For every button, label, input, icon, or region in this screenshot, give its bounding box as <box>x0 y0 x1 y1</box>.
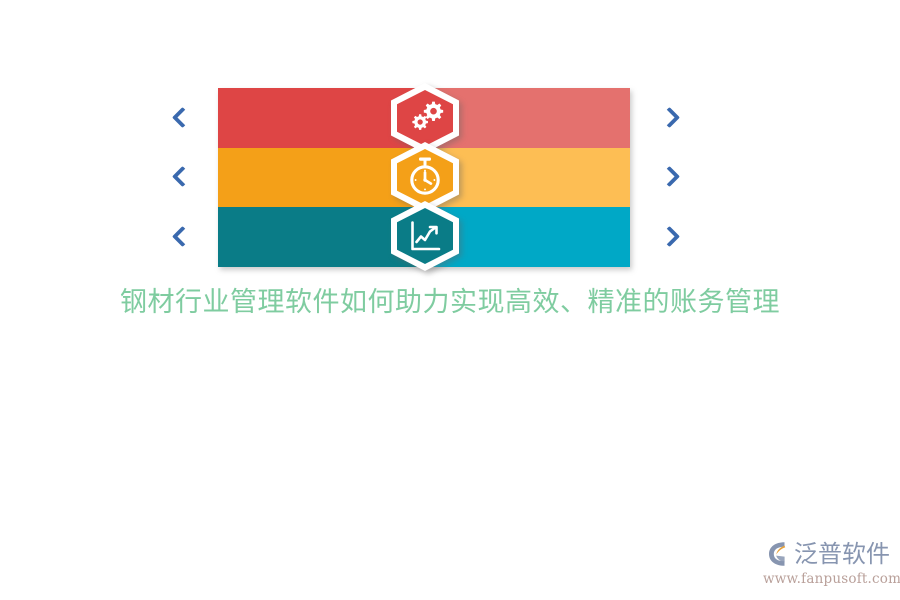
right-chevron-group <box>650 88 684 267</box>
page-title: 钢材行业管理软件如何助力实现高效、精准的账务管理 <box>0 286 900 320</box>
infographic-banner <box>150 80 710 280</box>
hexagon-badge-stack <box>387 80 463 280</box>
chevron-right-icon[interactable] <box>659 107 675 129</box>
chevron-left-icon[interactable] <box>173 226 189 248</box>
chevron-left-icon[interactable] <box>173 107 189 129</box>
chevron-right-icon[interactable] <box>659 226 675 248</box>
left-chevron-group <box>164 88 198 267</box>
chevron-left-icon[interactable] <box>173 166 189 188</box>
fanpu-swoosh-logo-icon <box>762 539 792 569</box>
brand-url: www.fanpusoft.com <box>763 571 892 588</box>
hexagon-badge-growth[interactable] <box>387 200 463 272</box>
page-canvas: 钢材行业管理软件如何助力实现高效、精准的账务管理 泛普软件 www.fanpus… <box>0 0 900 600</box>
chevron-right-icon[interactable] <box>659 166 675 188</box>
brand-logo-row: 泛普软件 <box>762 538 892 570</box>
brand-logo[interactable]: 泛普软件 www.fanpusoft.com <box>762 538 892 592</box>
brand-name: 泛普软件 <box>794 539 890 569</box>
